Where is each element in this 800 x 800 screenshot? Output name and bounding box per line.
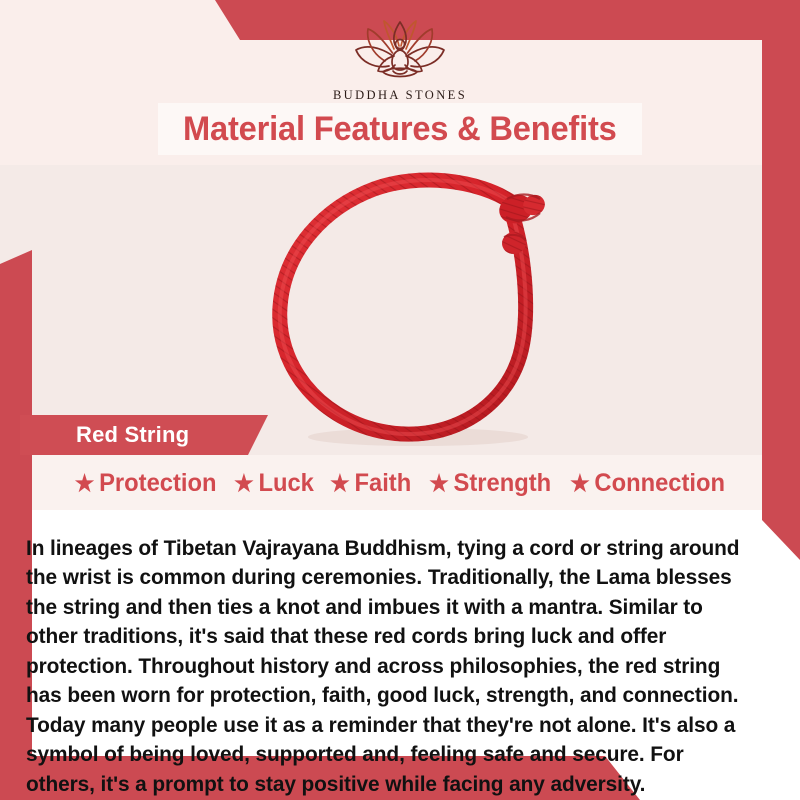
benefit-item-strength: ★ Strength <box>423 469 556 498</box>
product-image <box>0 165 800 455</box>
star-icon: ★ <box>570 472 590 495</box>
benefit-label: Connection <box>594 469 725 498</box>
infographic-canvas: BUDDHA STONES Material Features & Benefi… <box>0 0 800 800</box>
star-icon: ★ <box>330 472 350 495</box>
benefit-label: Luck <box>259 469 314 498</box>
benefit-label: Protection <box>99 469 216 498</box>
description-text: In lineages of Tibetan Vajrayana Buddhis… <box>26 534 755 800</box>
page-title-band: Material Features & Benefits <box>158 103 642 155</box>
page-title: Material Features & Benefits <box>183 110 617 149</box>
star-icon: ★ <box>234 472 254 495</box>
benefit-item-connection: ★ Connection <box>564 469 730 498</box>
lotus-meditation-icon <box>345 14 455 86</box>
benefit-item-protection: ★ Protection <box>69 469 222 498</box>
benefit-label: Strength <box>453 469 551 498</box>
brand-wordmark: BUDDHA STONES <box>0 88 800 103</box>
star-icon: ★ <box>75 472 95 495</box>
benefit-item-luck: ★ Luck <box>229 469 320 498</box>
brand-logo: BUDDHA STONES <box>0 14 800 103</box>
benefit-item-faith: ★ Faith <box>325 469 417 498</box>
product-name-banner: Red String <box>20 415 268 455</box>
benefits-list: ★ Protection ★ Luck ★ Faith ★ Strength ★… <box>0 462 800 504</box>
benefit-label: Faith <box>355 469 412 498</box>
red-string-bracelet-icon <box>268 165 576 453</box>
product-name-label: Red String <box>76 422 189 448</box>
star-icon: ★ <box>429 472 449 495</box>
